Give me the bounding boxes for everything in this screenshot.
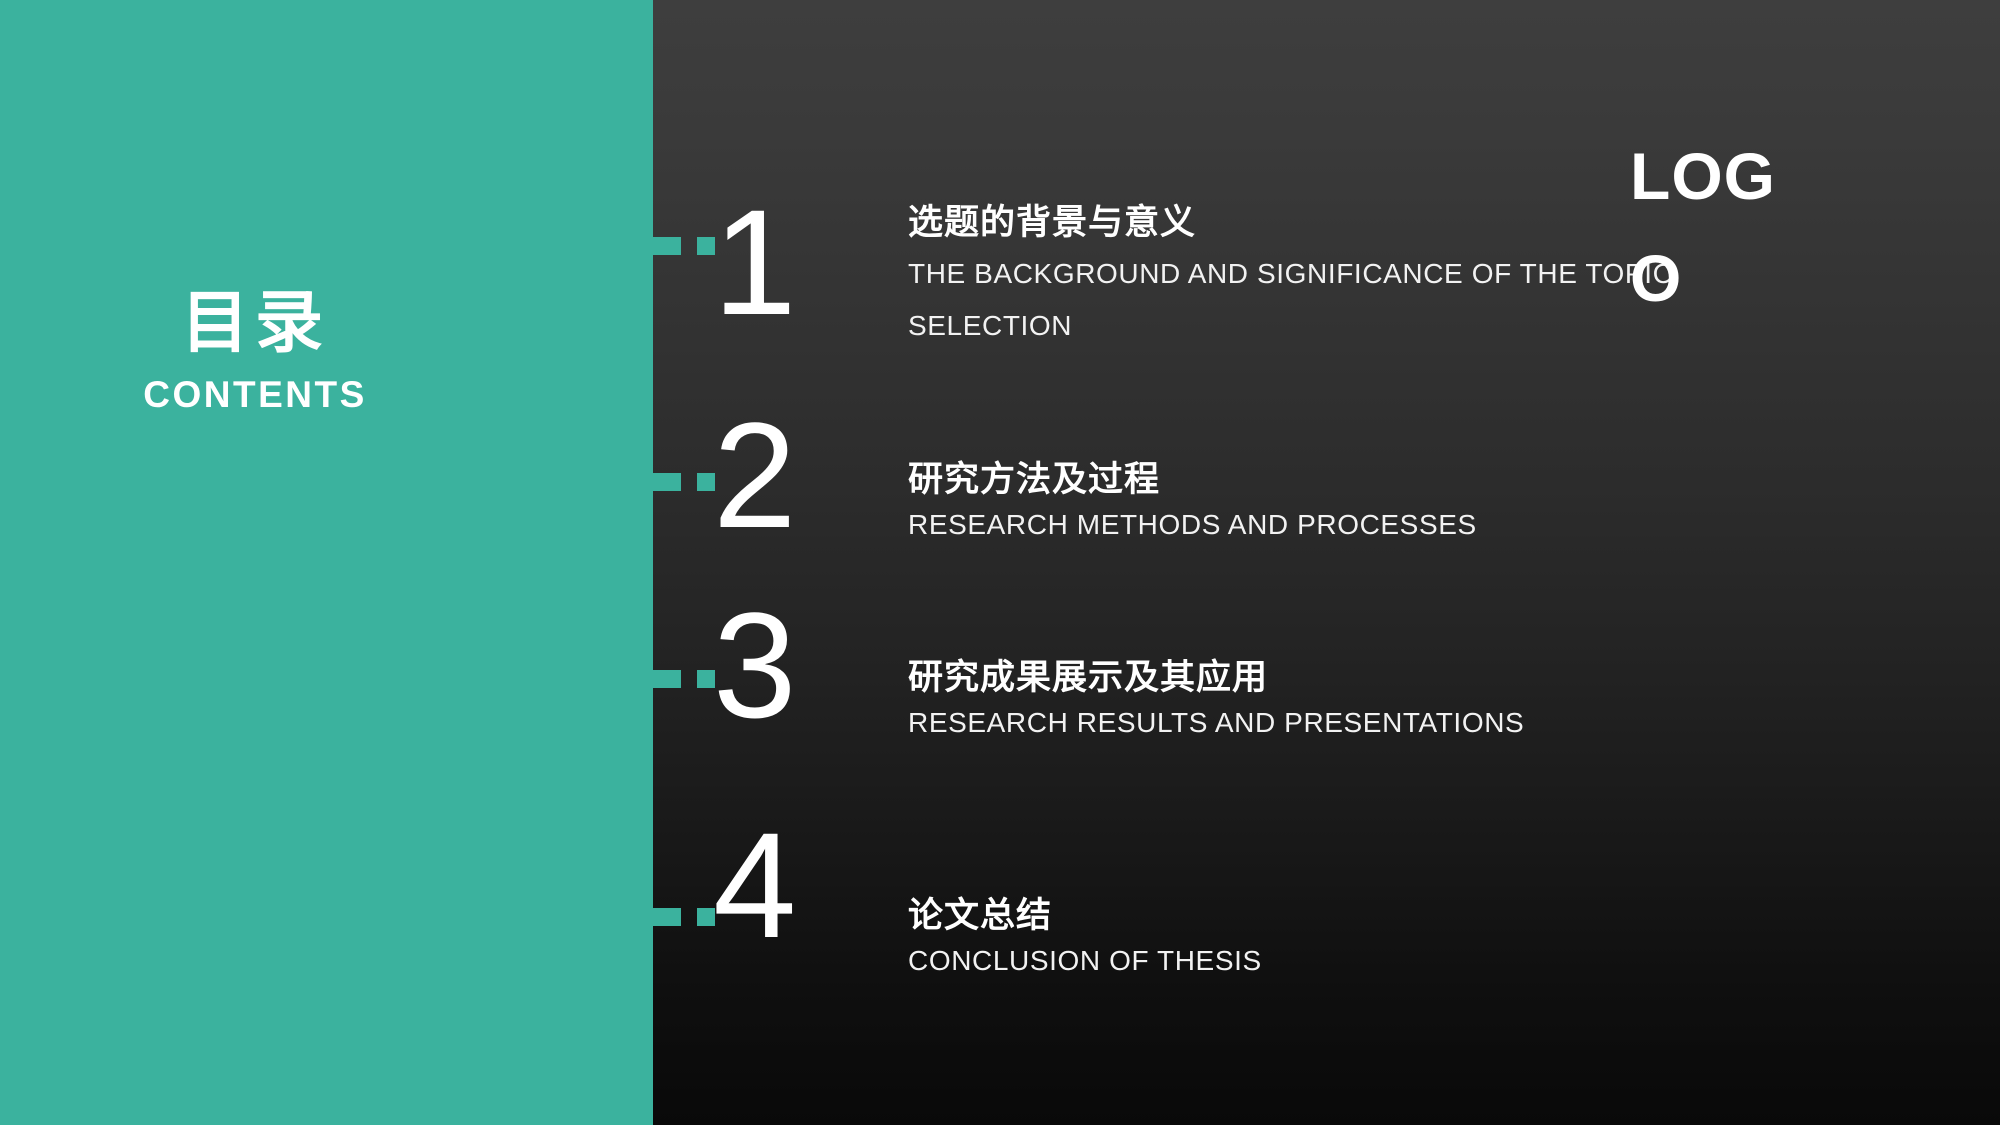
item-title-english-3: RESEARCH RESULTS AND PRESENTATIONS — [908, 705, 1524, 740]
item-number-2: 2 — [713, 400, 796, 550]
item-text-group-1: 选题的背景与意义 THE BACKGROUND AND SIGNIFICANCE… — [908, 203, 1718, 352]
item-number-1: 1 — [713, 187, 796, 337]
logo-placeholder: LOGO — [1630, 125, 1810, 330]
item-title-english-2: RESEARCH METHODS AND PROCESSES — [908, 507, 1477, 542]
slide-table-of-contents: 目录 CONTENTS 1 选题的背景与意义 THE BACKGROUND AN… — [0, 0, 2000, 1125]
item-title-chinese-2: 研究方法及过程 — [908, 460, 1477, 501]
dash-icon — [653, 670, 681, 688]
item-title-english-1: THE BACKGROUND AND SIGNIFICANCE OF THE T… — [908, 248, 1718, 352]
item-title-chinese-3: 研究成果展示及其应用 — [908, 658, 1524, 699]
item-text-group-4: 论文总结 CONCLUSION OF THESIS — [908, 896, 1262, 978]
item-title-chinese-1: 选题的背景与意义 — [908, 203, 1718, 244]
item-text-group-2: 研究方法及过程 RESEARCH METHODS AND PROCESSES — [908, 460, 1477, 542]
item-text-group-3: 研究成果展示及其应用 RESEARCH RESULTS AND PRESENTA… — [908, 658, 1524, 740]
item-number-4: 4 — [713, 810, 796, 960]
item-title-english-4: CONCLUSION OF THESIS — [908, 943, 1262, 978]
item-title-chinese-4: 论文总结 — [908, 896, 1262, 937]
dash-icon — [653, 237, 681, 255]
item-number-3: 3 — [713, 590, 796, 740]
dash-icon — [653, 473, 681, 491]
dash-icon — [653, 908, 681, 926]
